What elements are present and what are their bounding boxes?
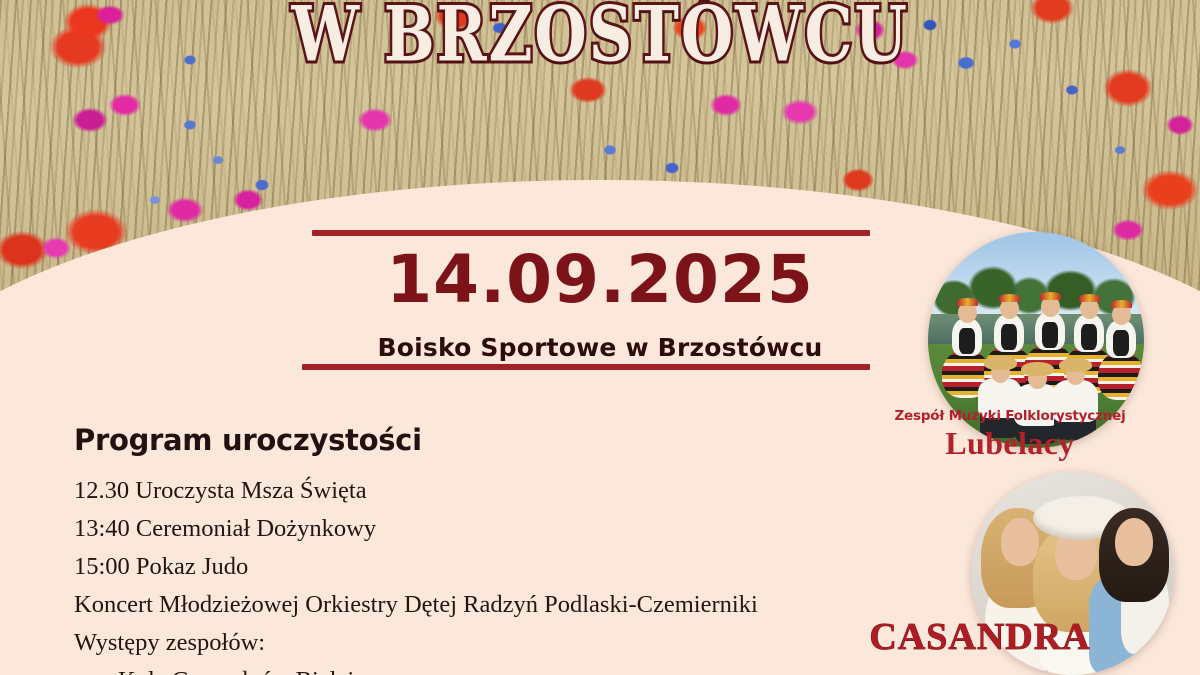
straw-hat [984,356,1017,370]
singer-face [1001,518,1039,566]
program-item: 13:40 Ceremoniał Dożynkowy [74,510,884,548]
program-item: Koła Gospodyń z Białej [74,662,884,675]
program-item: Występy zespołów: [74,624,884,662]
program-title: Program uroczystości [74,423,422,457]
folk-vest [1042,322,1058,348]
folk-wreath [957,298,978,306]
poster-canvas: DOŻYNKI GMINNE W BRZOSTÓWCU 14.09.2025 B… [0,0,1200,675]
singer-face [1115,518,1153,566]
folk-wreath [1079,294,1100,302]
lubelacy-name: Lubelacy [860,425,1160,462]
date-rule-top [312,230,870,236]
folk-vest [1113,330,1129,356]
casandra-name: CASANDRA [860,615,1100,659]
program-item: 12.30 Uroczysta Msza Święta [74,472,884,510]
folk-vest [1001,324,1017,350]
program-item: Koncert Młodzieżowej Orkiestry Dętej Rad… [74,586,884,624]
folk-wreath [1111,300,1132,308]
date-rule-bottom [302,364,870,370]
straw-hat [1059,358,1092,372]
folk-vest [1081,324,1097,350]
program-list: 12.30 Uroczysta Msza Święta13:40 Ceremon… [74,472,884,675]
folk-wreath [999,294,1020,302]
program-item: 15:00 Pokaz Judo [74,548,884,586]
lubelacy-subtitle: Zespół Muzyki Folklorystycznej [860,408,1160,424]
folk-vest [959,328,975,354]
folk-wreath [1040,292,1061,300]
folk-skirt [1098,352,1144,400]
straw-hat [1021,362,1054,376]
